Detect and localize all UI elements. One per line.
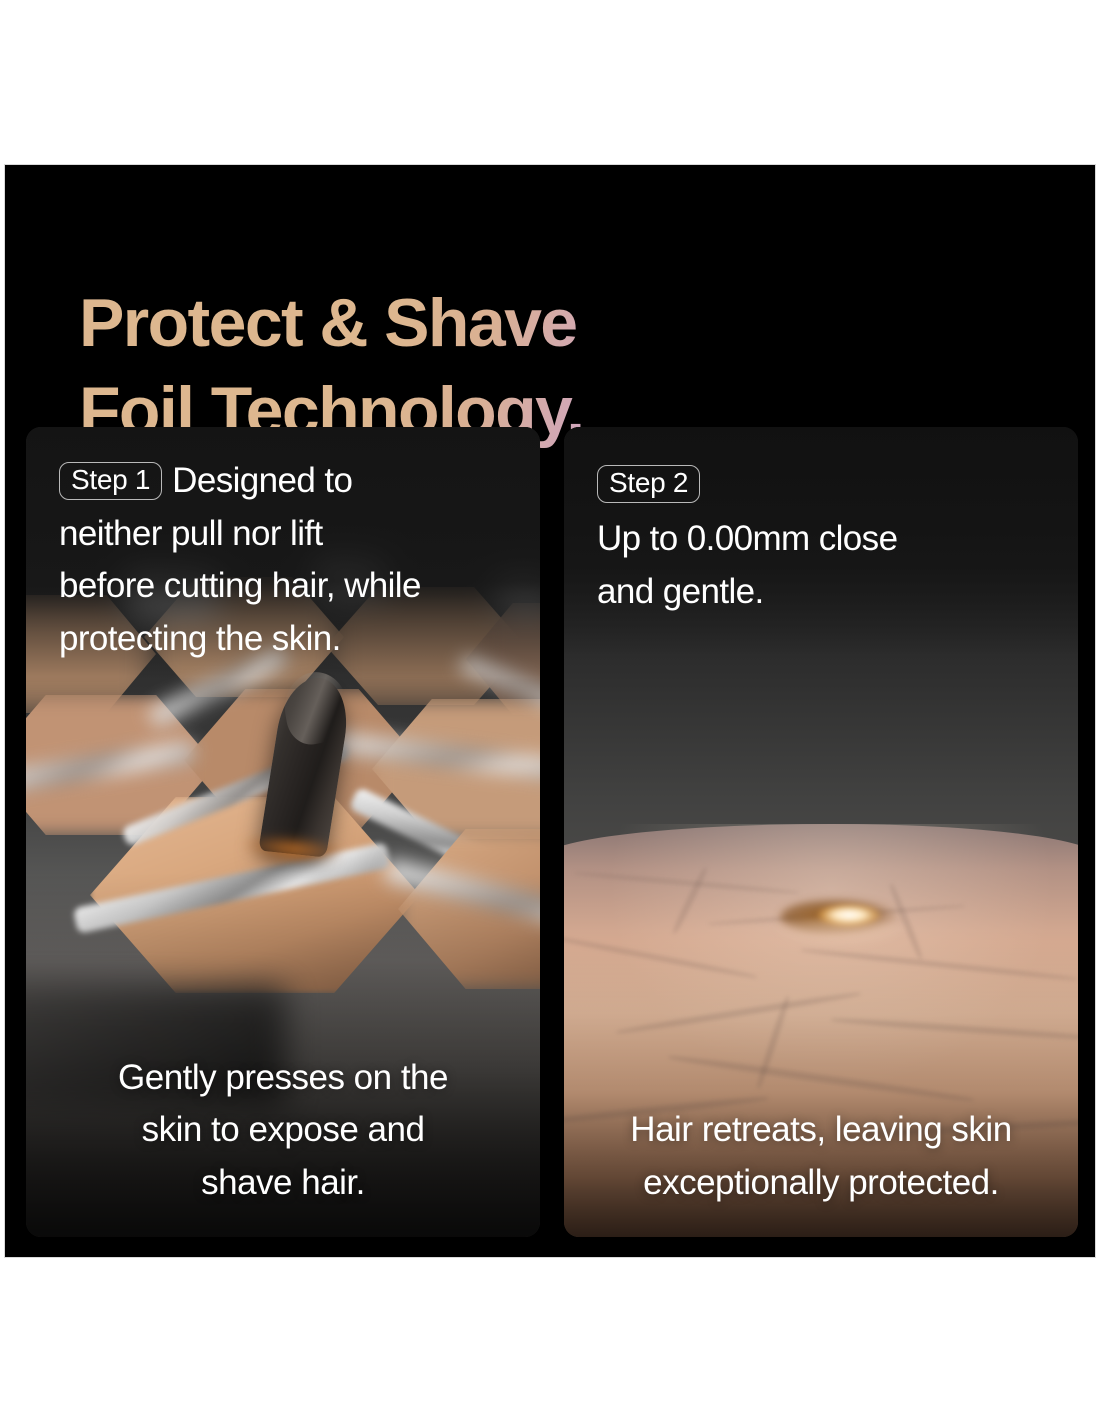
- step-2-copy-block: Step 2Up to 0.00mm close and gentle.: [564, 427, 1078, 618]
- promo-canvas: Protect & Shave Foil Technology.: [4, 164, 1096, 1258]
- step-2-description: Up to 0.00mm close and gentle.: [597, 513, 1052, 618]
- step-2-badge: Step 2: [597, 465, 700, 503]
- steps-row: Step 1Designed to neither pull nor lift …: [26, 427, 1078, 1237]
- step-1-caption: Gently presses on the skin to expose and…: [26, 1052, 540, 1210]
- step-2-caption: Hair retreats, leaving skin exceptionall…: [564, 1104, 1078, 1209]
- step-1-badge: Step 1: [59, 462, 162, 500]
- step-1-copy-block: Step 1Designed to neither pull nor lift …: [26, 427, 540, 665]
- step-2-card[interactable]: Step 2Up to 0.00mm close and gentle. Hai…: [564, 427, 1078, 1237]
- step-1-card[interactable]: Step 1Designed to neither pull nor lift …: [26, 427, 540, 1237]
